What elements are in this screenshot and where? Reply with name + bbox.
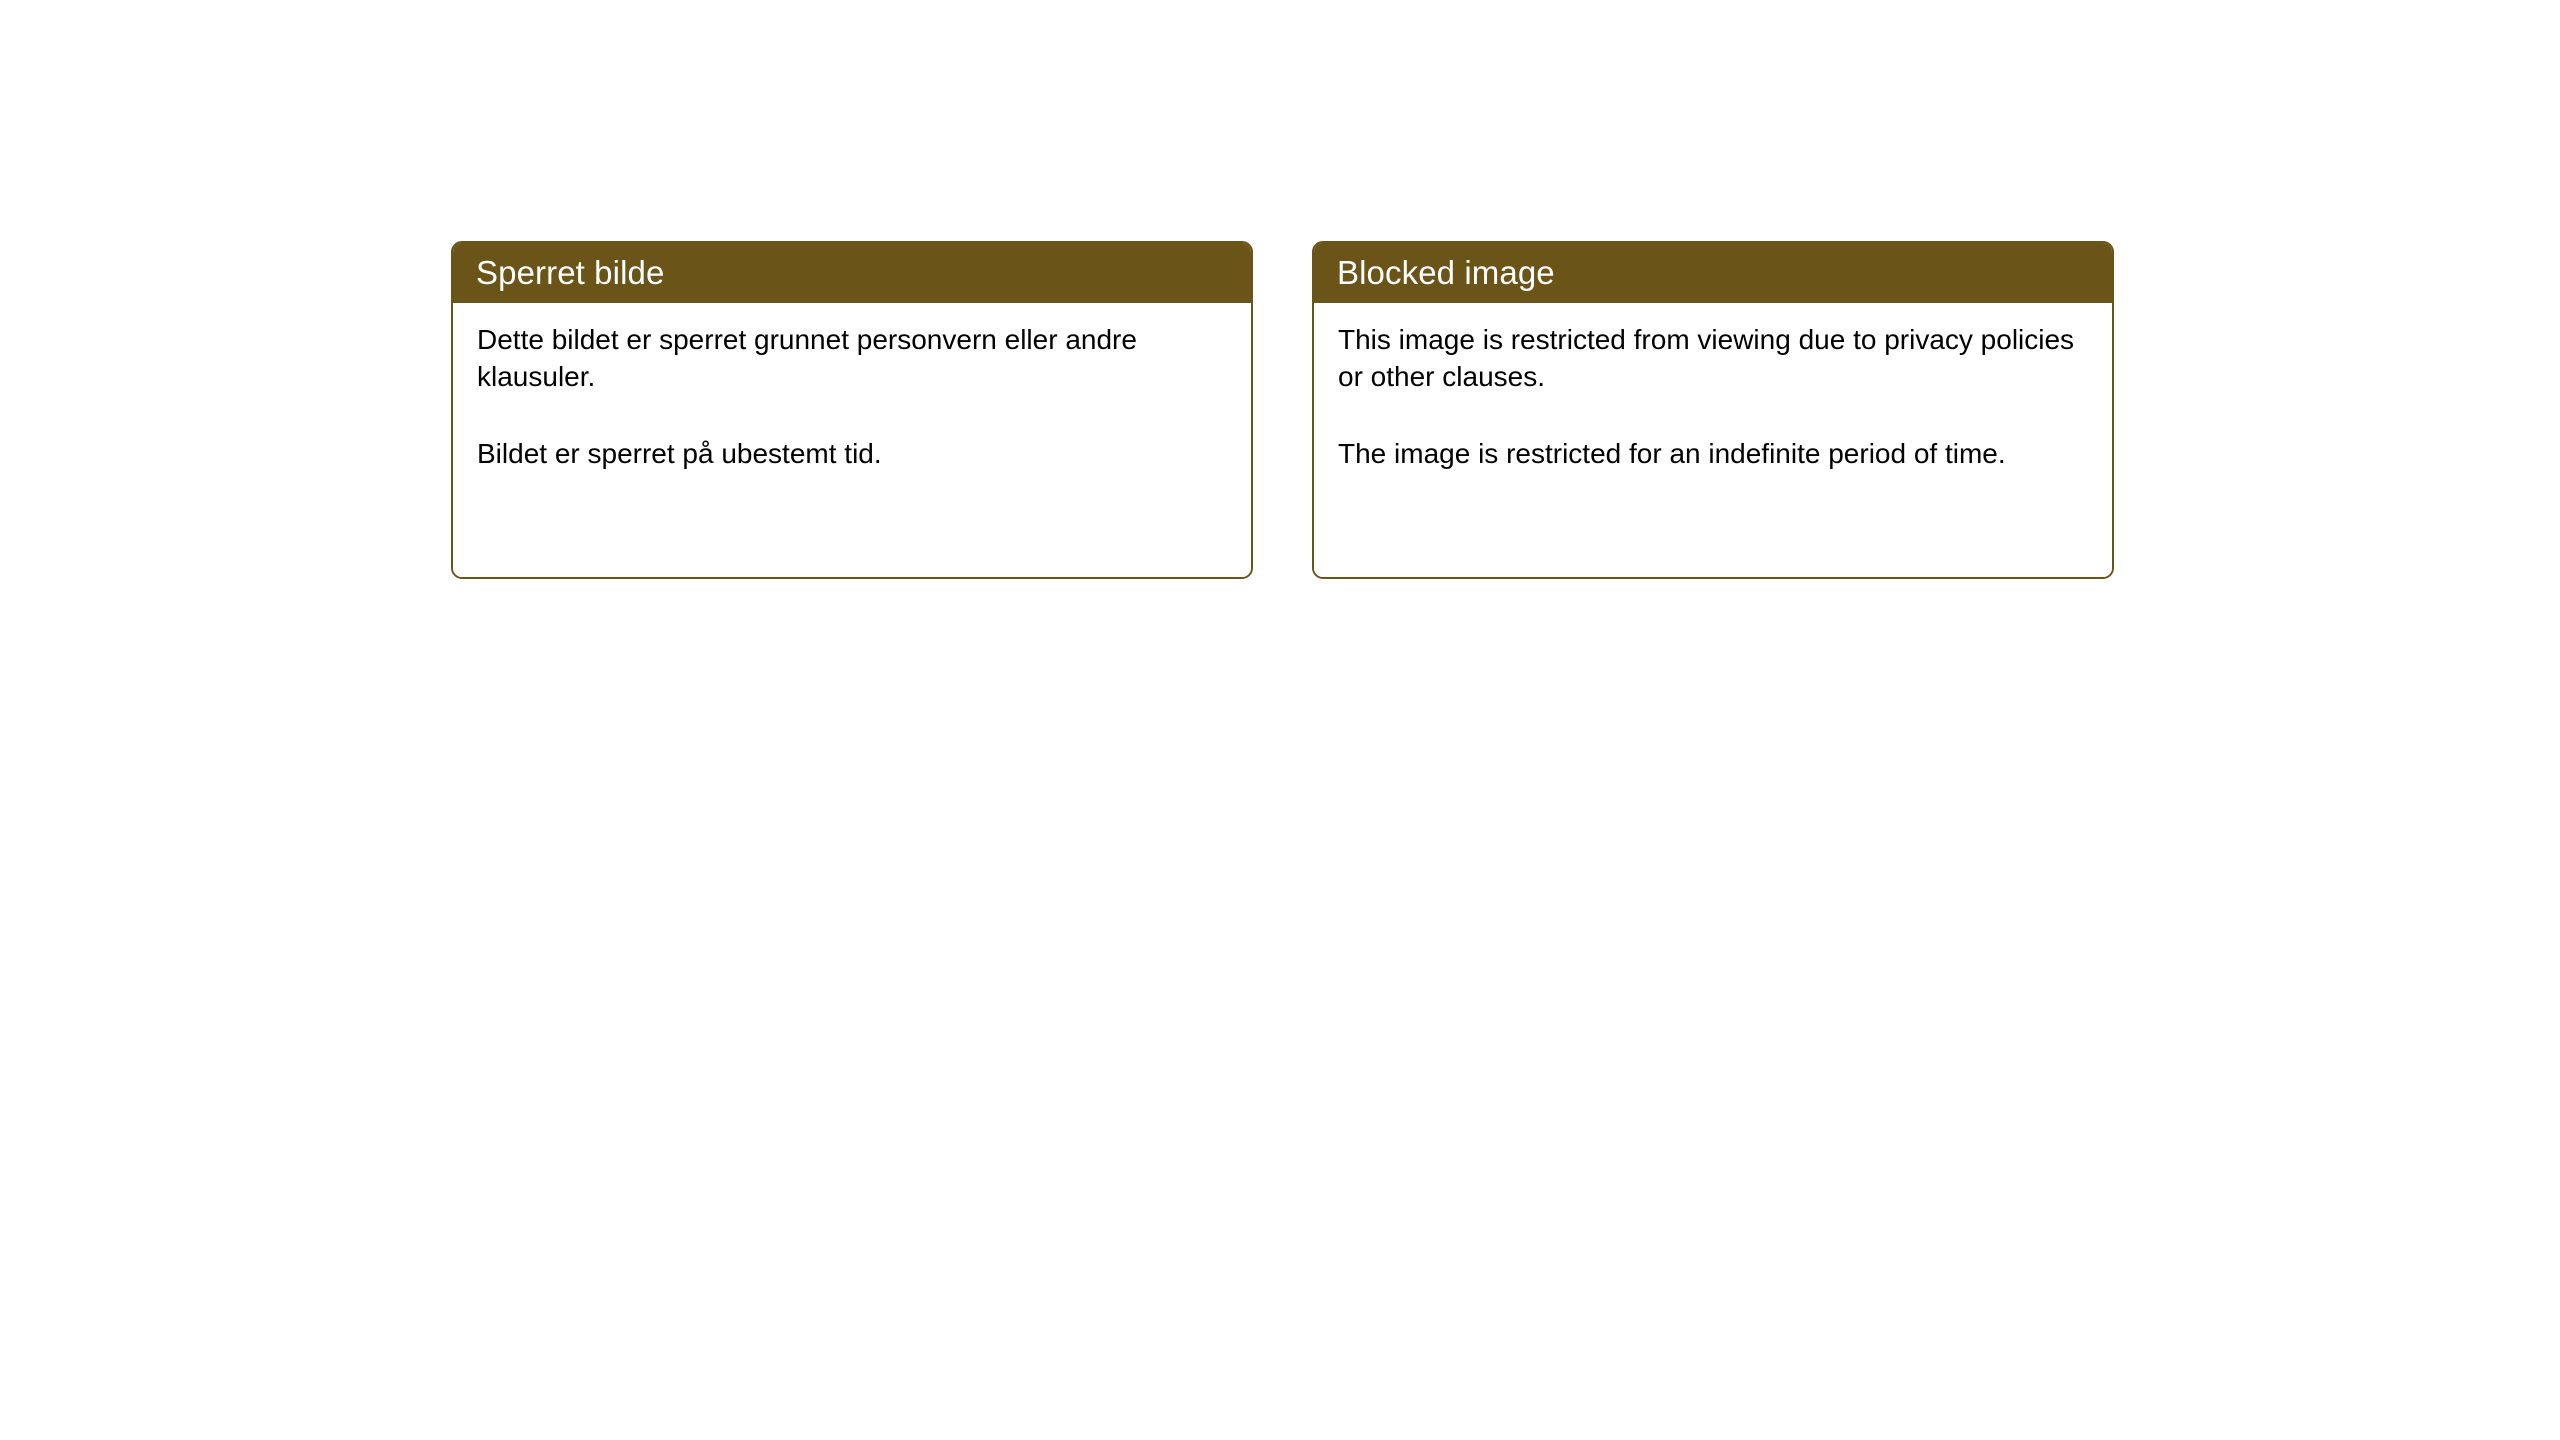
blocked-image-card-norwegian: Sperret bilde Dette bildet er sperret gr… bbox=[451, 241, 1253, 579]
card-header-english: Blocked image bbox=[1314, 243, 2112, 303]
card-paragraph-primary-english: This image is restricted from viewing du… bbox=[1338, 322, 2078, 395]
blocked-image-notice-container: Sperret bilde Dette bildet er sperret gr… bbox=[0, 0, 2560, 1440]
card-paragraph-secondary-norwegian: Bildet er sperret på ubestemt tid. bbox=[477, 436, 1217, 473]
card-title-norwegian: Sperret bilde bbox=[476, 254, 664, 292]
card-body-norwegian: Dette bildet er sperret grunnet personve… bbox=[453, 303, 1251, 577]
card-body-english: This image is restricted from viewing du… bbox=[1314, 303, 2112, 577]
card-paragraph-primary-norwegian: Dette bildet er sperret grunnet personve… bbox=[477, 322, 1217, 395]
blocked-image-card-english: Blocked image This image is restricted f… bbox=[1312, 241, 2114, 579]
card-title-english: Blocked image bbox=[1337, 254, 1555, 292]
card-paragraph-secondary-english: The image is restricted for an indefinit… bbox=[1338, 436, 2078, 473]
card-header-norwegian: Sperret bilde bbox=[453, 243, 1251, 303]
